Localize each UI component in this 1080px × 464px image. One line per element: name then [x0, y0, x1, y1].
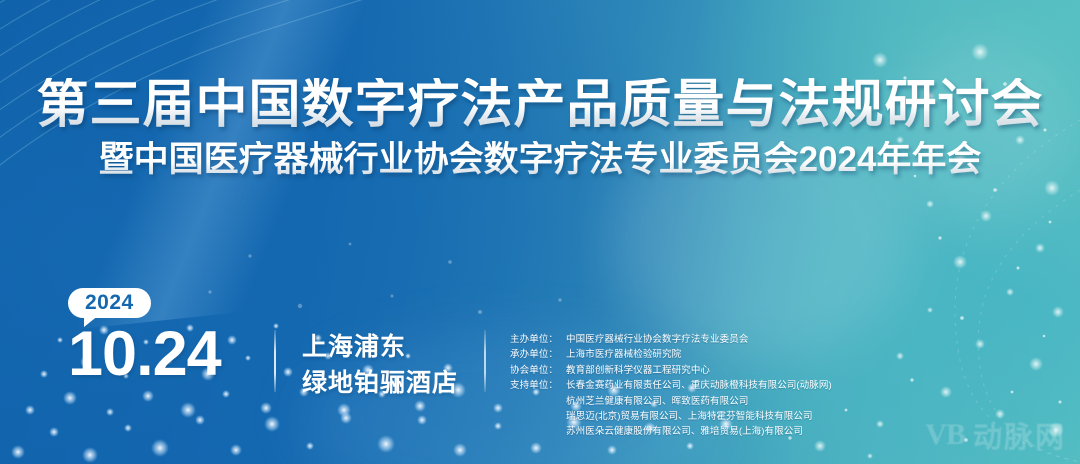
event-date: 10.24 — [68, 322, 268, 386]
credit-value: 瑞思迈(北京)贸易有限公司、上海特霍芬智能科技有限公司 — [566, 409, 832, 424]
credit-label: 协会单位： — [510, 363, 566, 378]
date-column: 2024 10.24 — [68, 288, 268, 386]
credit-row-host: 主办单位： 中国医疗器械行业协会数字疗法专业委员会 — [510, 332, 832, 347]
glow-blob-top-right — [880, 40, 1080, 220]
conference-title-main: 第三届中国数字疗法产品质量与法规研讨会 — [0, 78, 1080, 133]
credit-value: 中国医疗器械行业协会数字疗法专业委员会 — [566, 332, 832, 347]
title-block: 第三届中国数字疗法产品质量与法规研讨会 暨中国医疗器械行业协会数字疗法专业委员会… — [0, 78, 1080, 179]
info-strip: 2024 10.24 上海浦东 绿地铂骊酒店 主办单位： 中国医疗器械行业协会数… — [68, 288, 1040, 440]
credit-row-organizer: 承办单位： 上海市医疗器械检验研究院 — [510, 347, 832, 362]
credit-values: 上海市医疗器械检验研究院 — [566, 347, 832, 362]
conference-banner: 第三届中国数字疗法产品质量与法规研讨会 暨中国医疗器械行业协会数字疗法专业委员会… — [0, 0, 1080, 464]
credit-value: 苏州医朵云健康股份有限公司、雅培贸易(上海)有限公司 — [566, 424, 832, 439]
vertical-divider-left — [274, 330, 276, 392]
credit-values: 长春金赛药业有限责任公司、重庆动脉橙科技有限公司(动脉网) 杭州芝兰健康有限公司… — [566, 378, 832, 440]
credit-row-association: 协会单位： 教育部创新科学仪器工程研究中心 — [510, 363, 832, 378]
venue-city: 上海浦东 — [302, 330, 458, 366]
credit-values: 中国医疗器械行业协会数字疗法专业委员会 — [566, 332, 832, 347]
credit-row-supporters: 支持单位： 长春金赛药业有限责任公司、重庆动脉橙科技有限公司(动脉网) 杭州芝兰… — [510, 378, 832, 440]
venue-hotel: 绿地铂骊酒店 — [302, 366, 458, 402]
credit-value: 杭州芝兰健康有限公司、晖致医药有限公司 — [566, 394, 832, 409]
credit-values: 教育部创新科学仪器工程研究中心 — [566, 363, 832, 378]
credit-value: 教育部创新科学仪器工程研究中心 — [566, 363, 832, 378]
credits-block: 主办单位： 中国医疗器械行业协会数字疗法专业委员会 承办单位： 上海市医疗器械检… — [510, 332, 832, 440]
wave-lines-decoration — [0, 0, 530, 330]
year-badge: 2024 — [68, 288, 151, 318]
credit-value: 长春金赛药业有限责任公司、重庆动脉橙科技有限公司(动脉网) — [566, 378, 832, 393]
credit-label: 支持单位： — [510, 378, 566, 440]
credit-label: 主办单位： — [510, 332, 566, 347]
conference-title-sub: 暨中国医疗器械行业协会数字疗法专业委员会2024年年会 — [0, 141, 1080, 180]
vertical-divider-right — [484, 330, 486, 392]
venue-block: 上海浦东 绿地铂骊酒店 — [302, 330, 458, 401]
credit-label: 承办单位： — [510, 347, 566, 362]
credit-value: 上海市医疗器械检验研究院 — [566, 347, 832, 362]
